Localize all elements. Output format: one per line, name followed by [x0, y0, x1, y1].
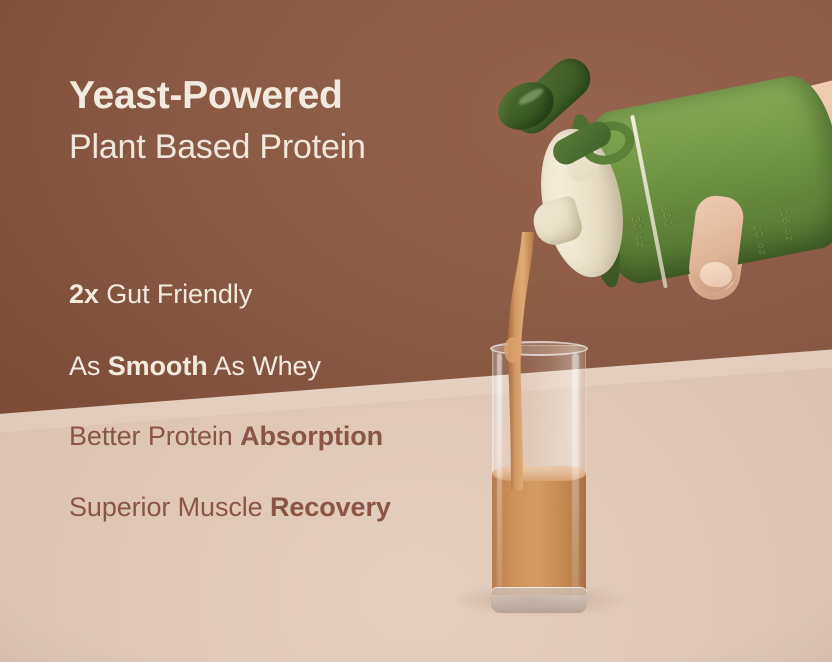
feature-item-4: Superior Muscle Recovery	[69, 494, 391, 521]
glass-highlight-right	[572, 353, 579, 599]
page-subtitle: Plant Based Protein	[69, 130, 366, 164]
feature-suffix: Gut Friendly	[99, 279, 252, 309]
feature-item-1: 2x Gut Friendly	[69, 281, 252, 308]
feature-emphasis: 2x	[69, 279, 99, 309]
product-ad-banner: Yeast-Powered Plant Based Protein 2x Gut…	[0, 0, 832, 662]
feature-prefix: Superior Muscle	[69, 492, 270, 522]
feature-prefix: Better Protein	[69, 421, 240, 451]
feature-item-3: Better Protein Absorption	[69, 423, 383, 450]
shaker-bottle: 600 400 20 oz 16 oz 10 oz	[487, 58, 832, 320]
feature-prefix: As	[69, 351, 108, 381]
feature-item-2: As Smooth As Whey	[69, 353, 321, 380]
page-title: Yeast-Powered	[69, 76, 343, 115]
feature-suffix: As Whey	[208, 351, 321, 381]
stream-bulge	[504, 337, 522, 363]
glass-base	[491, 587, 587, 613]
feature-emphasis: Smooth	[108, 351, 208, 381]
feature-emphasis: Absorption	[240, 421, 383, 451]
feature-emphasis: Recovery	[270, 492, 391, 522]
